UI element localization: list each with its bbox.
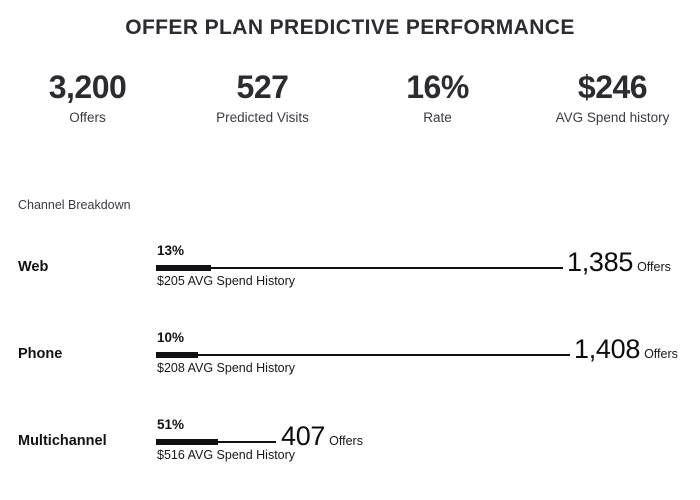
channel-avg-spend: $516 AVG Spend History [157,448,295,462]
channel-rate-percent: 13% [157,243,184,258]
channel-offers-value: 407 [281,421,325,451]
channel-breakdown-list: Web 13% $205 AVG Spend History 1,385Offe… [0,236,700,497]
kpi-rate: 16% Rate [350,70,525,126]
channel-name: Phone [18,346,62,362]
kpi-summary-row: 3,200 Offers 527 Predicted Visits 16% Ra… [0,70,700,126]
channel-offers-unit: Offers [329,434,363,448]
channel-row-web: Web 13% $205 AVG Spend History 1,385Offe… [0,236,700,323]
channel-row-multichannel: Multichannel 51% $516 AVG Spend History … [0,410,700,497]
kpi-offers-label: Offers [0,110,175,126]
channel-row-phone: Phone 10% $208 AVG Spend History 1,408Of… [0,323,700,410]
channel-name: Web [18,259,48,275]
channel-offers-unit: Offers [637,260,671,274]
kpi-offers: 3,200 Offers [0,70,175,126]
channel-offers-value: 1,408 [574,334,640,364]
channel-bar-fill [156,352,198,359]
kpi-avg-spend-history-label: AVG Spend history [525,110,700,126]
channel-offers-unit: Offers [644,347,678,361]
kpi-avg-spend-history: $246 AVG Spend history [525,70,700,126]
page-title: OFFER PLAN PREDICTIVE PERFORMANCE [0,16,700,40]
channel-avg-spend: $208 AVG Spend History [157,361,295,375]
channel-name: Multichannel [18,433,107,449]
kpi-offers-value: 3,200 [0,70,175,105]
channel-rate-percent: 10% [157,330,184,345]
kpi-rate-label: Rate [350,110,525,126]
channel-breakdown-label: Channel Breakdown [18,198,131,212]
channel-offers: 407Offers [281,423,363,450]
kpi-predicted-visits-value: 527 [175,70,350,105]
channel-bar-line [156,354,570,356]
channel-offers: 1,385Offers [567,249,671,276]
kpi-predicted-visits-label: Predicted Visits [175,110,350,126]
channel-bar-fill [156,265,211,272]
kpi-predicted-visits: 527 Predicted Visits [175,70,350,126]
kpi-rate-value: 16% [350,70,525,105]
channel-rate-percent: 51% [157,417,184,432]
channel-offers-value: 1,385 [567,247,633,277]
kpi-avg-spend-history-value: $246 [525,70,700,105]
channel-bar-fill [156,439,218,446]
channel-avg-spend: $205 AVG Spend History [157,274,295,288]
channel-bar-line [156,267,563,269]
channel-offers: 1,408Offers [574,336,678,363]
